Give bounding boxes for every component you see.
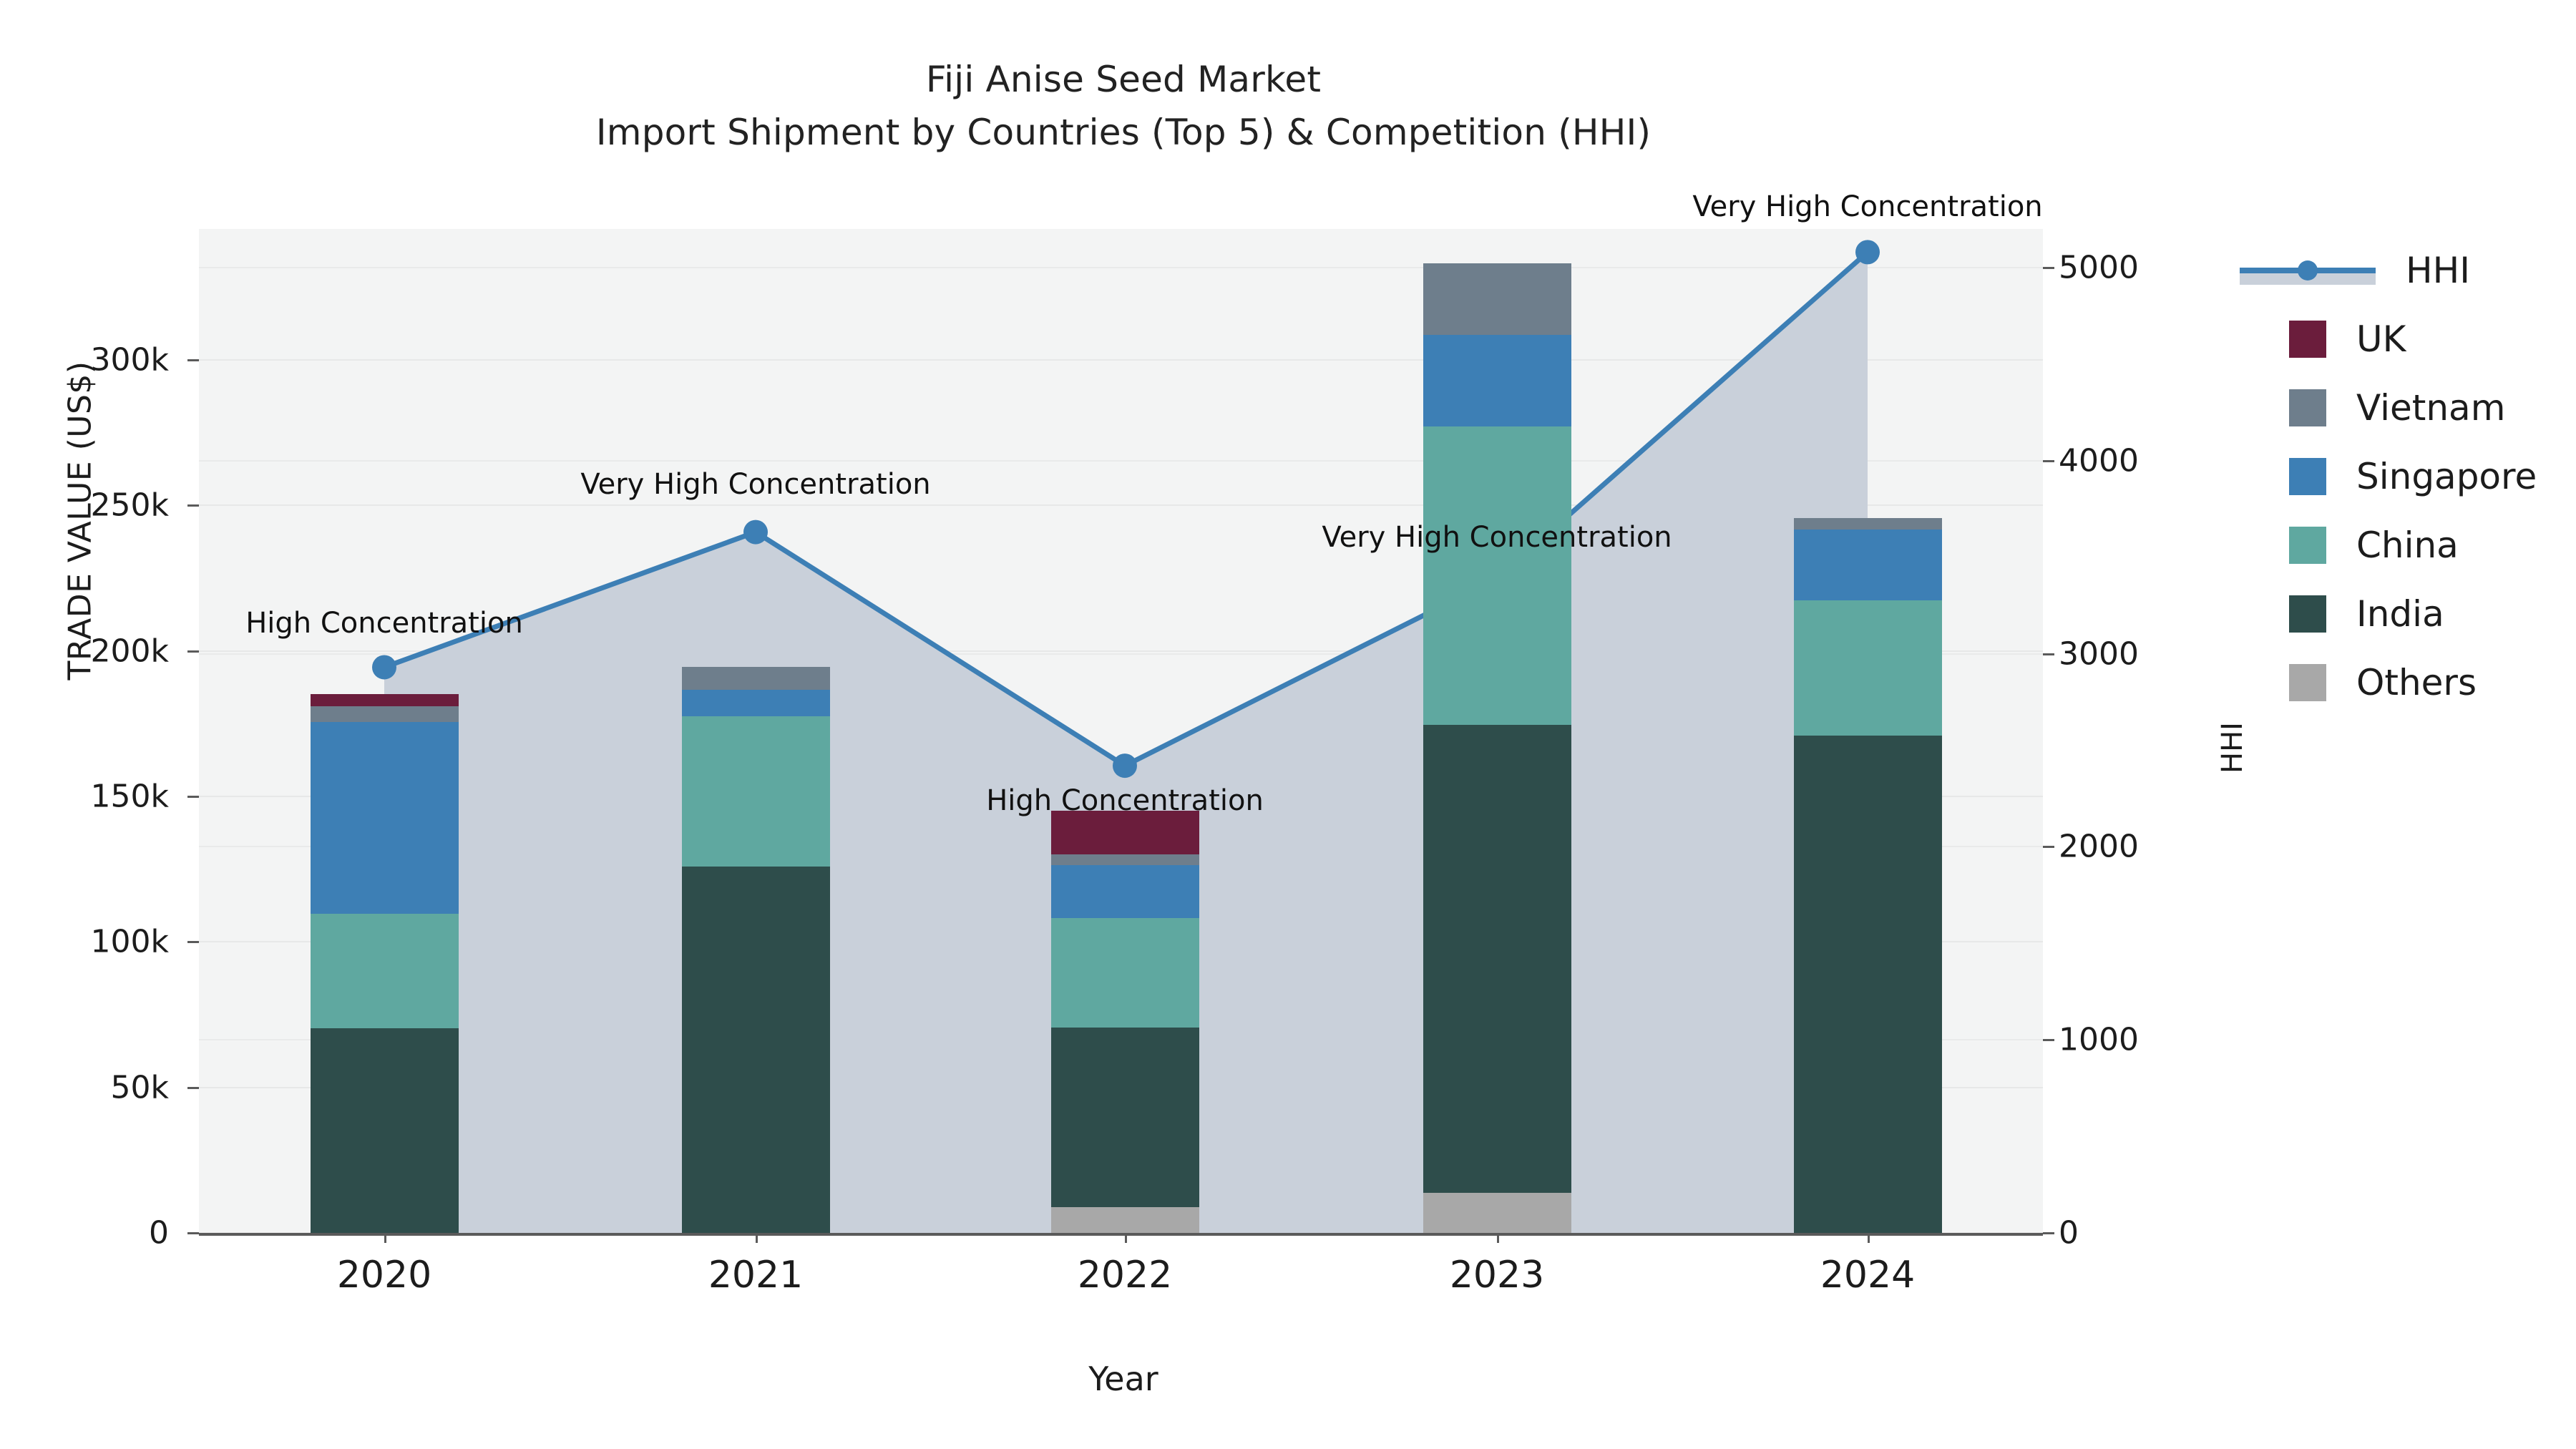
legend-label: Vietnam	[2356, 387, 2505, 429]
hhi-annotation-label: High Concentration	[245, 607, 523, 640]
legend-item[interactable]: Others	[2240, 648, 2537, 717]
bar-segment[interactable]	[1794, 600, 1942, 735]
bar-segment[interactable]	[1423, 725, 1571, 1193]
x-axis-tick	[1497, 1233, 1499, 1243]
plot-area	[199, 229, 2043, 1234]
y-axis-right-tick	[2043, 267, 2054, 269]
y-axis-right-tick-label: 2000	[2059, 829, 2139, 865]
x-axis-tick	[384, 1233, 386, 1243]
bar-segment[interactable]	[311, 1028, 459, 1233]
y-axis-right-tick-label: 4000	[2059, 442, 2139, 479]
y-axis-right-tick	[2043, 846, 2054, 848]
bar-segment[interactable]	[1051, 1207, 1199, 1233]
bar-segment[interactable]	[1423, 263, 1571, 334]
hhi-annotation-label: Very High Concentration	[580, 468, 930, 501]
title-line-1: Fiji Anise Seed Market	[0, 53, 2247, 106]
bar-segment[interactable]	[1794, 530, 1942, 600]
bar-segment[interactable]	[311, 706, 459, 722]
bar-segment[interactable]	[1794, 518, 1942, 530]
legend-item[interactable]: HHI	[2240, 236, 2537, 305]
y-axis-left-tick	[187, 650, 199, 653]
y-axis-right-tick	[2043, 653, 2054, 655]
bar-segment[interactable]	[1794, 736, 1942, 1233]
legend-line-key-icon	[2240, 252, 2376, 289]
legend-swatch-icon	[2289, 389, 2326, 426]
bar-segment[interactable]	[682, 716, 830, 866]
legend-swatch-icon	[2289, 321, 2326, 358]
legend-label: India	[2356, 593, 2444, 635]
bar-segment[interactable]	[1423, 426, 1571, 725]
y-axis-left-tick	[187, 1232, 199, 1234]
y-axis-left-tick-label: 50k	[0, 1069, 169, 1106]
y-axis-left-title: TRADE VALUE (US$)	[62, 321, 99, 721]
hhi-point-marker[interactable]	[1855, 240, 1880, 264]
bar-segment[interactable]	[1051, 854, 1199, 865]
hhi-point-marker[interactable]	[1113, 753, 1137, 778]
hhi-point-marker[interactable]	[372, 655, 396, 679]
legend-item[interactable]: China	[2240, 511, 2537, 580]
y-axis-right-tick	[2043, 1039, 2054, 1041]
legend-swatch-icon	[2289, 595, 2326, 633]
legend: HHIUKVietnamSingaporeChinaIndiaOthers	[2240, 236, 2537, 717]
y-axis-right-tick	[2043, 1232, 2054, 1234]
y-axis-left-tick	[187, 504, 199, 507]
title-line-2: Import Shipment by Countries (Top 5) & C…	[0, 106, 2247, 159]
x-axis-tick	[1125, 1233, 1127, 1243]
legend-label: HHI	[2406, 250, 2470, 291]
x-axis-tick-label: 2020	[337, 1254, 431, 1297]
y-axis-right-tick-label: 1000	[2059, 1022, 2139, 1058]
legend-label: China	[2356, 525, 2459, 566]
legend-label: Others	[2356, 662, 2477, 703]
bar-segment[interactable]	[311, 914, 459, 1028]
legend-item[interactable]: Vietnam	[2240, 374, 2537, 442]
y-axis-right-tick-label: 5000	[2059, 249, 2139, 286]
bar-segment[interactable]	[682, 690, 830, 716]
bar-segment[interactable]	[1051, 865, 1199, 918]
x-axis-title: Year	[0, 1360, 2247, 1398]
chart-canvas: Fiji Anise Seed Market Import Shipment b…	[0, 0, 2576, 1449]
legend-swatch-icon	[2289, 527, 2326, 564]
hhi-annotation-label: High Concentration	[986, 784, 1264, 817]
x-axis-tick-label: 2023	[1450, 1254, 1544, 1297]
bar-segment[interactable]	[682, 867, 830, 1233]
x-axis-tick	[1868, 1233, 1870, 1243]
legend-item[interactable]: India	[2240, 580, 2537, 648]
bar-segment[interactable]	[1423, 1193, 1571, 1233]
bar-segment[interactable]	[682, 667, 830, 690]
legend-swatch-icon	[2289, 458, 2326, 495]
bar-segment[interactable]	[311, 694, 459, 706]
y-axis-left-tick	[187, 941, 199, 943]
legend-label: Singapore	[2356, 456, 2537, 497]
legend-label: UK	[2356, 318, 2406, 360]
chart-title: Fiji Anise Seed Market Import Shipment b…	[0, 53, 2247, 159]
bar-segment[interactable]	[311, 722, 459, 914]
hhi-point-marker[interactable]	[743, 520, 768, 545]
hhi-annotation-label: Very High Concentration	[1322, 521, 1672, 554]
bar-segment[interactable]	[1051, 811, 1199, 854]
bar-segment[interactable]	[1423, 335, 1571, 426]
bar-segment[interactable]	[1051, 918, 1199, 1028]
y-axis-right-tick-label: 0	[2059, 1215, 2079, 1252]
y-axis-left-tick-label: 100k	[0, 924, 169, 960]
x-axis-tick-label: 2021	[708, 1254, 803, 1297]
y-axis-left-tick-label: 150k	[0, 779, 169, 815]
y-axis-right-tick-label: 3000	[2059, 635, 2139, 672]
x-axis-tick	[756, 1233, 758, 1243]
y-axis-left-tick	[187, 796, 199, 798]
x-axis-line	[199, 1233, 2043, 1236]
bar-segment[interactable]	[1051, 1028, 1199, 1207]
legend-item[interactable]: UK	[2240, 305, 2537, 374]
hhi-annotation-label: Very High Concentration	[1692, 190, 2042, 223]
legend-item[interactable]: Singapore	[2240, 442, 2537, 511]
legend-swatch-icon	[2289, 664, 2326, 701]
y-axis-left-tick	[187, 1087, 199, 1089]
y-axis-left-tick	[187, 359, 199, 361]
x-axis-tick-label: 2024	[1820, 1254, 1915, 1297]
y-axis-right-tick	[2043, 460, 2054, 462]
x-axis-tick-label: 2022	[1078, 1254, 1172, 1297]
y-axis-left-tick-label: 0	[0, 1215, 169, 1252]
